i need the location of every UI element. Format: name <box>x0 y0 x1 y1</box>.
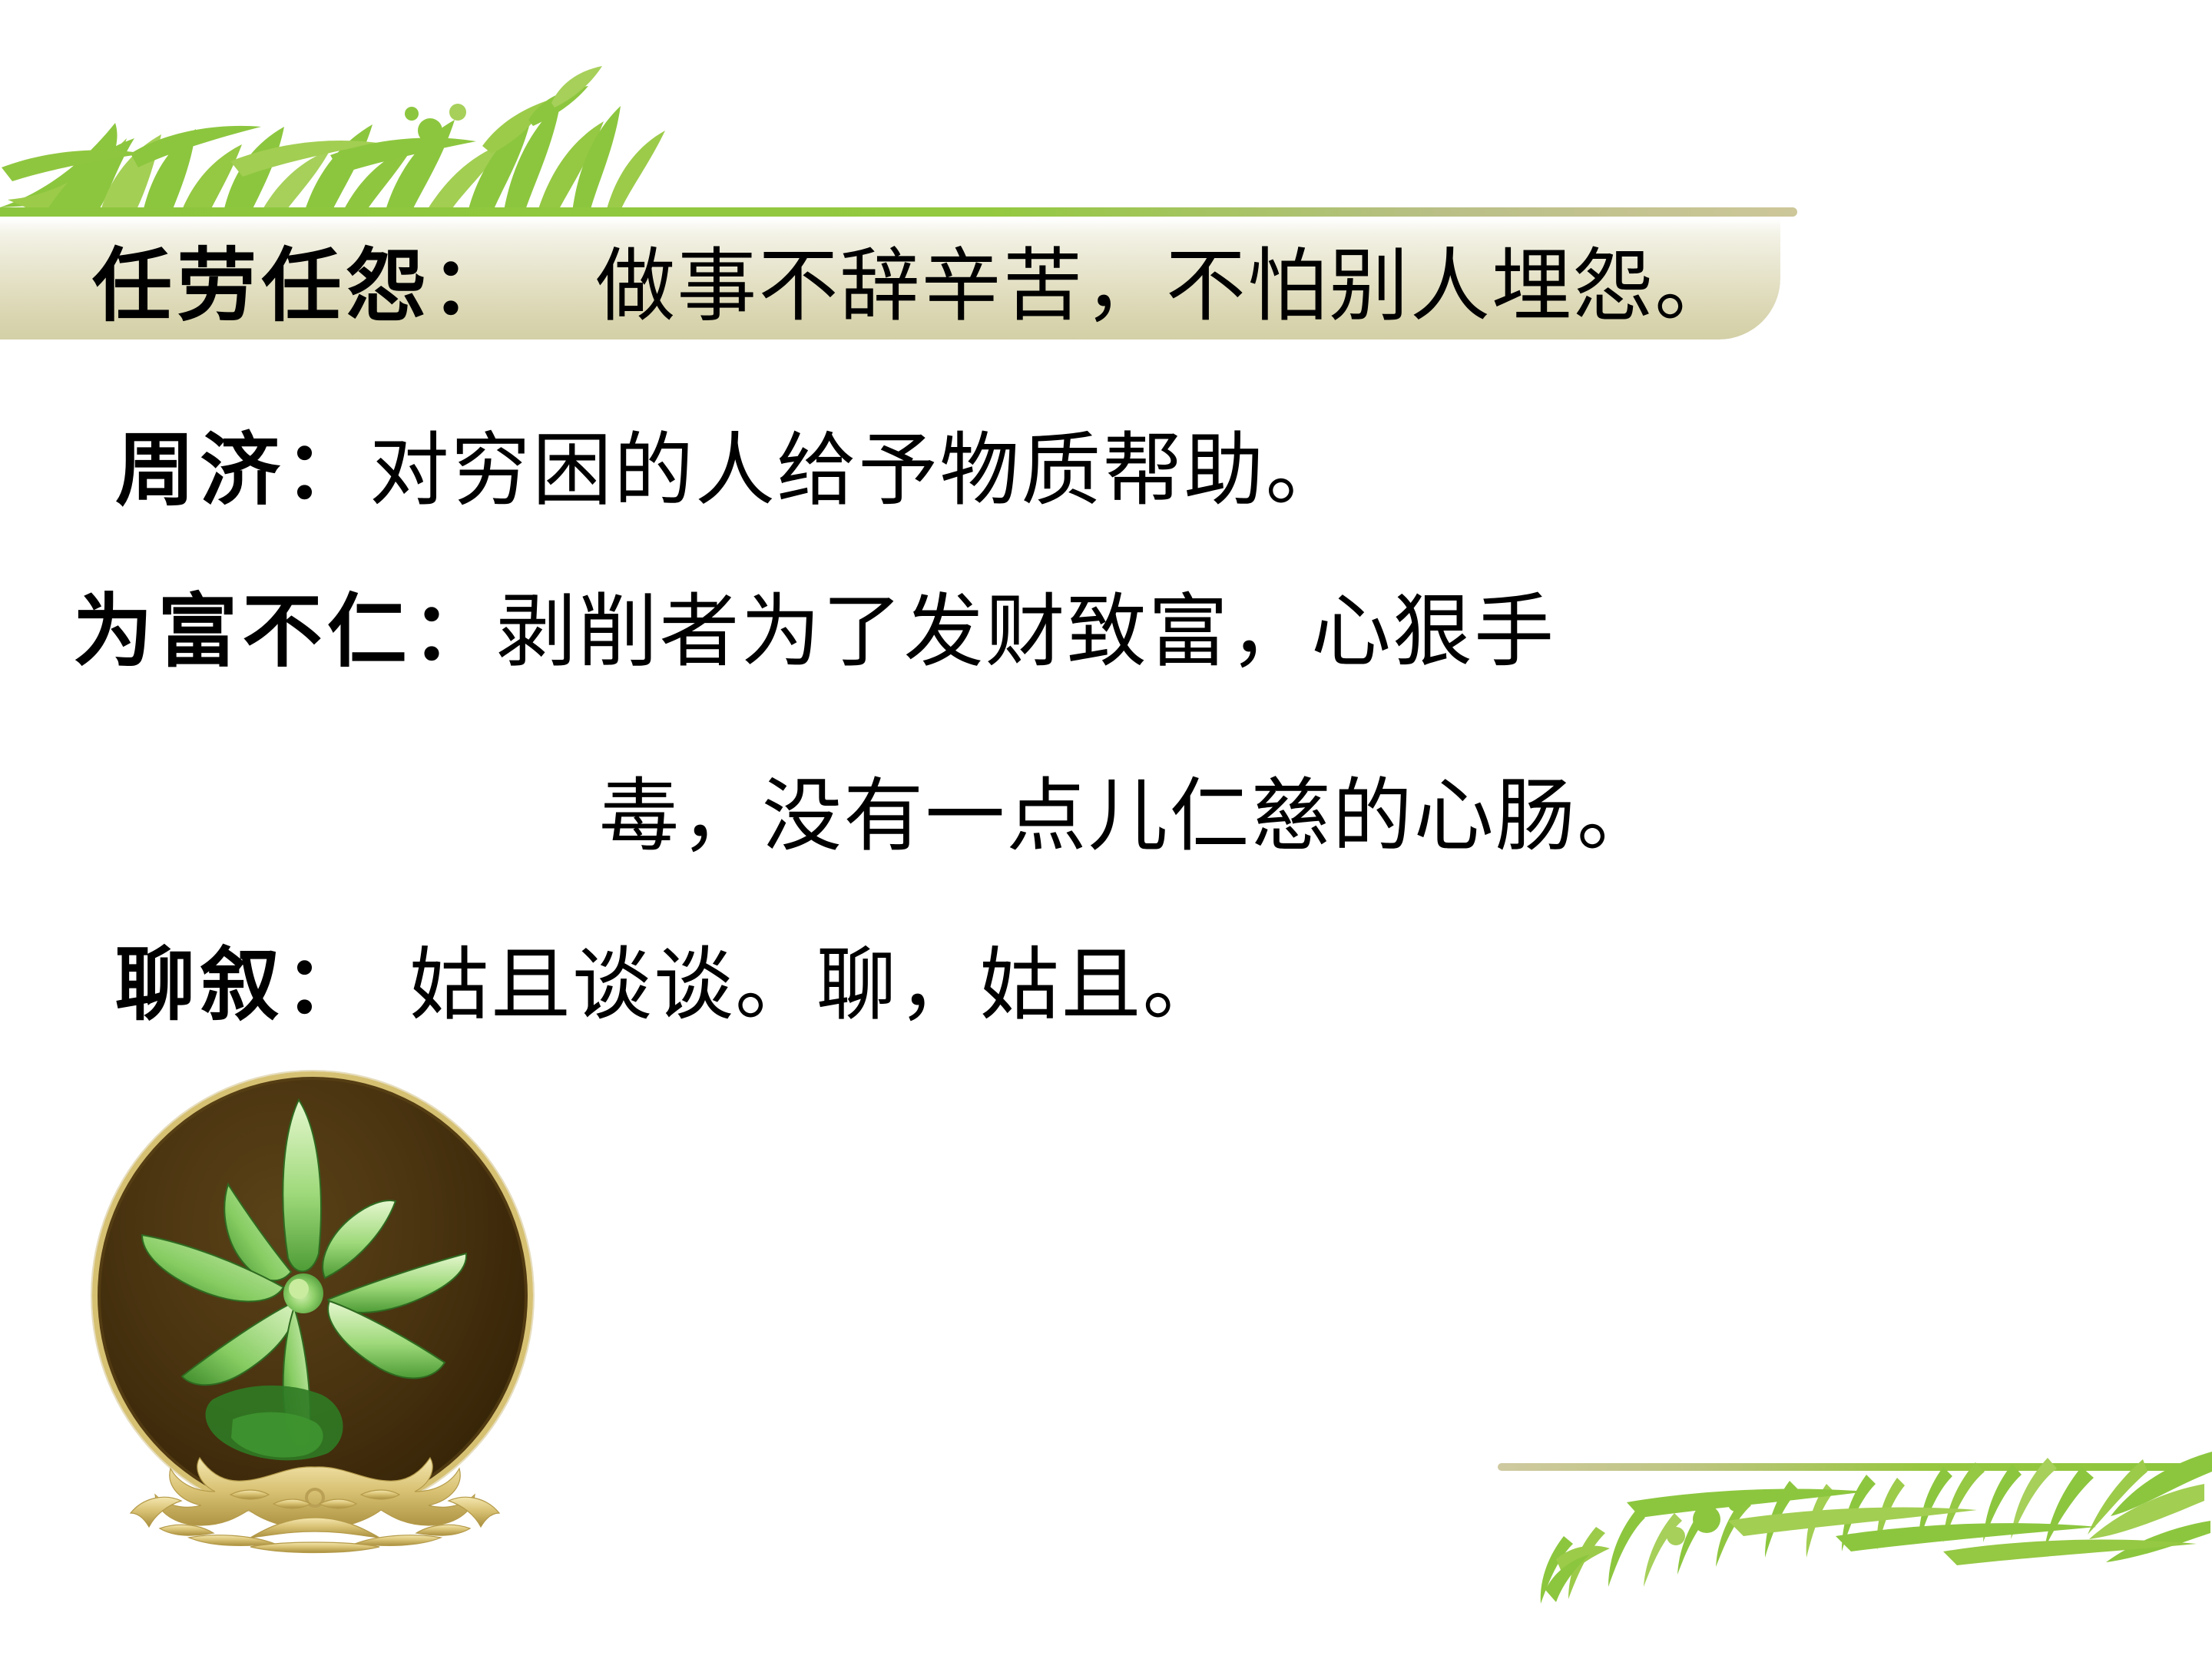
entry-definition: 剥削者为了发财致富，心狠手 <box>496 584 1555 678</box>
definition-entry-4: 聊叙：姑且谈谈。聊，姑且。 <box>115 945 1224 1025</box>
definition-entry-3: 为富不仁：剥削者为了发财致富，心狠手 <box>73 591 1555 671</box>
entry-definition: 毒，没有一点儿仁慈的心肠。 <box>599 769 1658 863</box>
gold-filigree-ornament-icon <box>84 1421 545 1567</box>
entry-definition: 对穷困的人给予物质帮助。 <box>369 423 1347 517</box>
slide-canvas: 任劳任怨：做事不辞辛苦，不怕别人埋怨。 周济：对穷困的人给予物质帮助。 为富不仁… <box>0 0 2212 1659</box>
definition-entry-2: 周济：对穷困的人给予物质帮助。 <box>115 430 1347 510</box>
entry-definition: 姑且谈谈。聊，姑且。 <box>409 938 1224 1031</box>
definition-entry-1: 任劳任怨：做事不辞辛苦，不怕别人埋怨。 <box>92 246 1736 326</box>
entry-term: 周济： <box>115 422 369 517</box>
entry-definition: 做事不辞辛苦，不怕别人埋怨。 <box>595 239 1736 333</box>
definition-entry-3-continuation: 毒，没有一点儿仁慈的心肠。 <box>599 776 1658 856</box>
entry-term: 任劳任怨： <box>92 238 515 333</box>
entry-term: 为富不仁： <box>73 584 496 678</box>
bottom-green-rule <box>1498 1463 2212 1471</box>
plant-medallion <box>84 1071 545 1563</box>
entry-term: 聊叙： <box>115 937 369 1031</box>
